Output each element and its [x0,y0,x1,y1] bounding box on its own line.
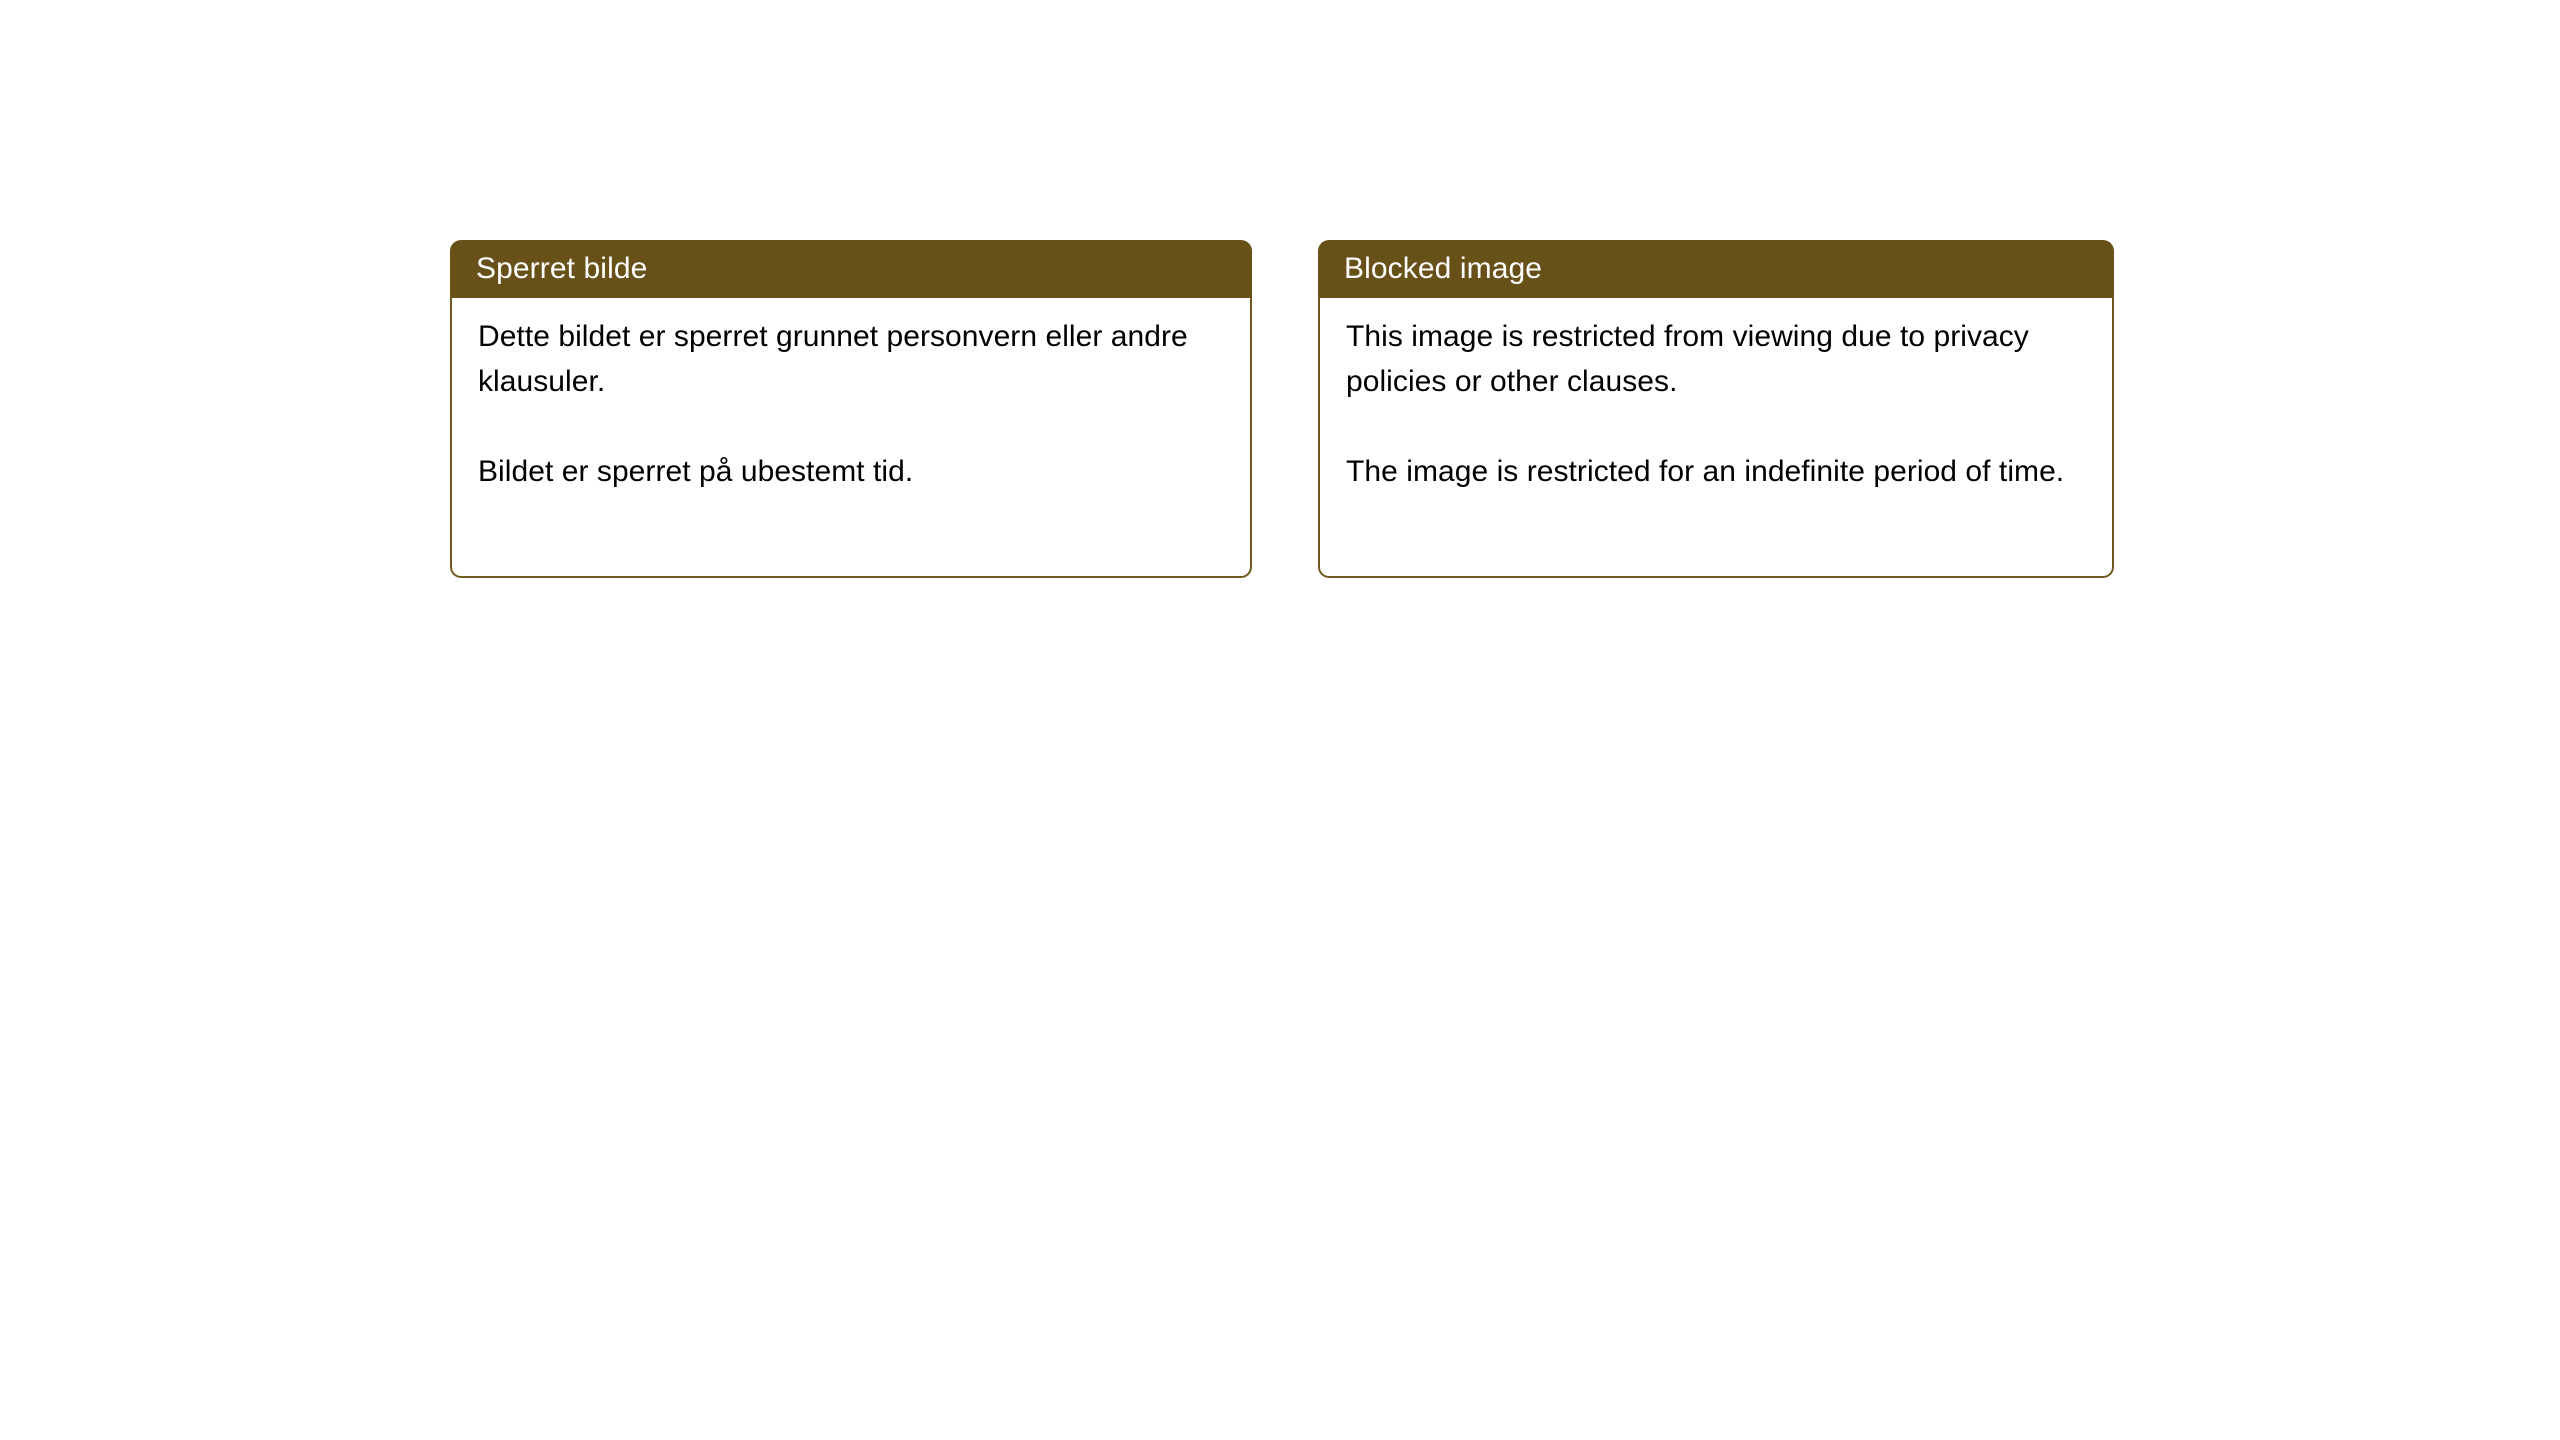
card-title-english: Blocked image [1344,252,1542,286]
card-body-norwegian: Dette bildet er sperret grunnet personve… [450,298,1252,578]
blocked-image-card-english: Blocked image This image is restricted f… [1318,240,2114,578]
card-paragraph-reason-norwegian: Dette bildet er sperret grunnet personve… [478,314,1226,404]
card-paragraph-duration-norwegian: Bildet er sperret på ubestemt tid. [478,449,1226,494]
blocked-image-card-norwegian: Sperret bilde Dette bildet er sperret gr… [450,240,1252,578]
blocked-image-notice-group: Sperret bilde Dette bildet er sperret gr… [450,240,2114,578]
card-paragraph-reason-english: This image is restricted from viewing du… [1346,314,2088,404]
card-body-english: This image is restricted from viewing du… [1318,298,2114,578]
card-header-norwegian: Sperret bilde [450,240,1252,298]
card-paragraph-duration-english: The image is restricted for an indefinit… [1346,449,2088,494]
card-header-english: Blocked image [1318,240,2114,298]
card-title-norwegian: Sperret bilde [476,252,647,286]
